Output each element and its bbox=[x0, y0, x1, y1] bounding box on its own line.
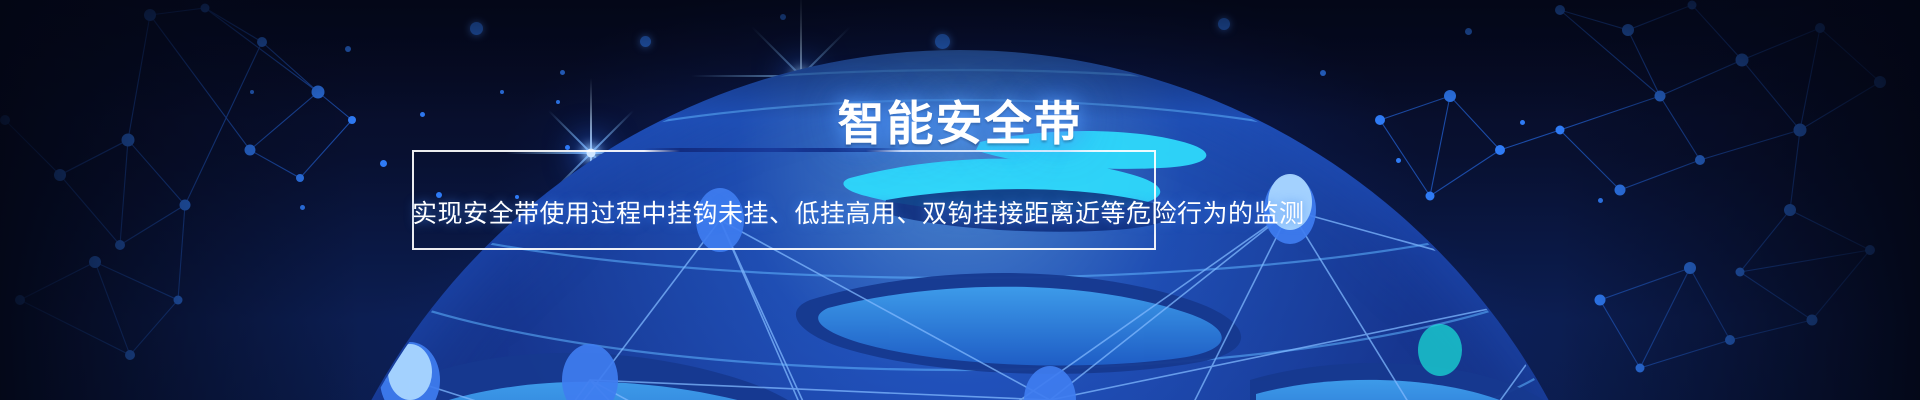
banner-subtitle: 实现安全带使用过程中挂钩未挂、低挂高用、双钩挂接距离近等危险行为的监测 bbox=[412, 194, 1156, 234]
banner-content: 智能安全带 实现安全带使用过程中挂钩未挂、低挂高用、双钩挂接距离近等危险行为的监… bbox=[0, 0, 1920, 400]
banner-title: 智能安全带 bbox=[0, 96, 1920, 152]
hero-banner: 智能安全带 实现安全带使用过程中挂钩未挂、低挂高用、双钩挂接距离近等危险行为的监… bbox=[0, 0, 1920, 400]
